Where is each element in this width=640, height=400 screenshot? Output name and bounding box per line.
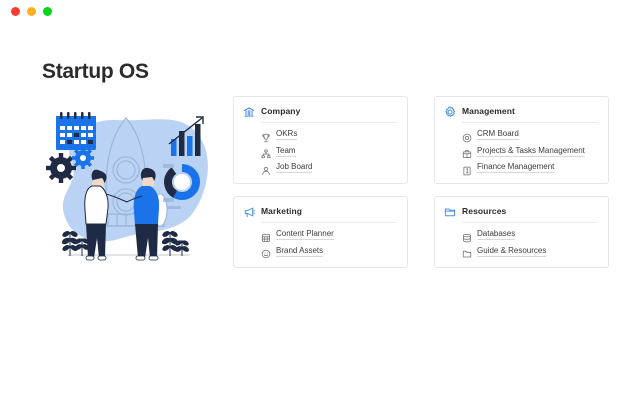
list-item-guide-resources[interactable]: Guide & Resources [462,246,598,257]
card-company: Company OKRs [233,96,408,184]
list-item-crm-board[interactable]: CRM Board [462,129,598,140]
table-icon [261,230,271,240]
list-item-content-planner[interactable]: Content Planner [261,229,397,240]
card-marketing: Marketing Content Planner [233,196,408,268]
list-item-label: Projects & Tasks Management [477,146,585,157]
folder-outline-icon [462,246,472,256]
org-chart-icon [261,146,271,156]
list-item-label: OKRs [276,129,297,140]
startup-team-rocket-illustration [30,98,225,273]
list-item-label: Guide & Resources [477,246,546,257]
title-bar [0,0,640,22]
list-item-label: Content Planner [276,229,334,240]
trophy-icon [261,130,271,140]
card-title-management: Management [462,106,515,116]
folder-icon [444,205,456,217]
list-item-label: Job Board [276,162,312,173]
list-item-job-board[interactable]: Job Board [261,162,397,173]
card-title-company: Company [261,106,300,116]
card-items-resources: Databases Guide & Resources [444,229,598,257]
card-header-resources: Resources [444,205,598,222]
app-window: Startup OS [0,0,640,400]
target-icon [462,130,472,140]
list-item-brand-assets[interactable]: Brand Assets [261,246,397,257]
person-icon [261,163,271,173]
database-icon [462,230,472,240]
card-items-marketing: Content Planner Brand Assets [243,229,397,257]
card-title-marketing: Marketing [261,206,302,216]
gear-icon [444,105,456,117]
page-title: Startup OS [42,60,149,84]
list-item-databases[interactable]: Databases [462,229,598,240]
close-button[interactable] [11,7,20,16]
list-item-label: Team [276,146,296,157]
list-item-team[interactable]: Team [261,146,397,157]
list-item-label: CRM Board [477,129,519,140]
card-header-company: Company [243,105,397,122]
list-item-label: Finance Management [477,162,554,173]
card-divider [462,222,598,223]
card-items-company: OKRs Team [243,129,397,173]
maximize-button[interactable] [43,7,52,16]
briefcase-icon [462,146,472,156]
cards-grid: Company OKRs [233,96,609,268]
card-resources: Resources Databases [434,196,609,268]
megaphone-icon [243,205,255,217]
traffic-lights [0,7,52,16]
minimize-button[interactable] [27,7,36,16]
card-header-marketing: Marketing [243,205,397,222]
circle-icon [261,246,271,256]
card-title-resources: Resources [462,206,506,216]
card-divider [261,222,397,223]
card-management: Management CRM Board [434,96,609,184]
card-items-management: CRM Board Projects & Tasks Management [444,129,598,173]
document-icon [462,163,472,173]
list-item-label: Brand Assets [276,246,323,257]
card-divider [462,122,598,123]
list-item-okrs[interactable]: OKRs [261,129,397,140]
card-divider [261,122,397,123]
list-item-projects-tasks[interactable]: Projects & Tasks Management [462,146,598,157]
bank-icon [243,105,255,117]
list-item-label: Databases [477,229,515,240]
card-header-management: Management [444,105,598,122]
list-item-finance-management[interactable]: Finance Management [462,162,598,173]
